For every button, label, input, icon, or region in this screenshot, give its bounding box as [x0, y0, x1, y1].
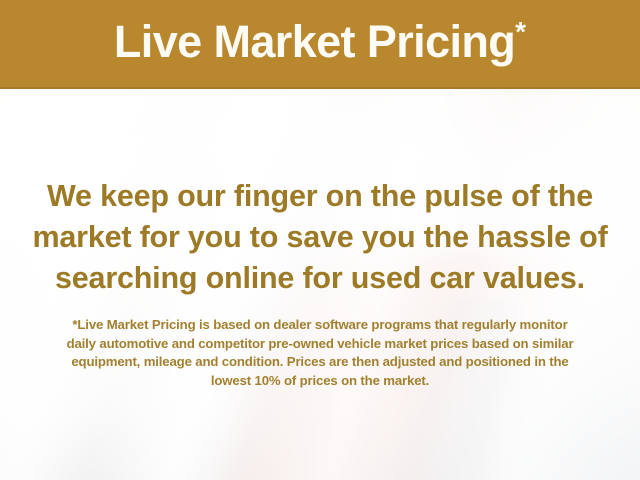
- body-copy-line: We keep our finger on the pulse of the: [18, 176, 622, 217]
- body-copy: We keep our finger on the pulse of the m…: [18, 176, 622, 299]
- page-title: Live Market Pricing*: [114, 19, 526, 68]
- page-title-asterisk: *: [515, 16, 526, 47]
- disclaimer-line: *Live Market Pricing is based on dealer …: [22, 316, 618, 335]
- body-copy-line: searching online for used car values.: [18, 258, 622, 299]
- disclaimer-line: equipment, mileage and condition. Prices…: [22, 353, 618, 372]
- header-band: Live Market Pricing*: [0, 0, 640, 89]
- disclaimer-line: daily automotive and competitor pre-owne…: [22, 335, 618, 354]
- disclaimer-line: lowest 10% of prices on the market.: [22, 372, 618, 391]
- live-market-pricing-slide: Live Market Pricing* We keep our finger …: [0, 0, 640, 480]
- page-title-text: Live Market Pricing: [114, 16, 515, 67]
- disclaimer-text: *Live Market Pricing is based on dealer …: [22, 316, 618, 390]
- body-copy-line: market for you to save you the hassle of: [18, 217, 622, 258]
